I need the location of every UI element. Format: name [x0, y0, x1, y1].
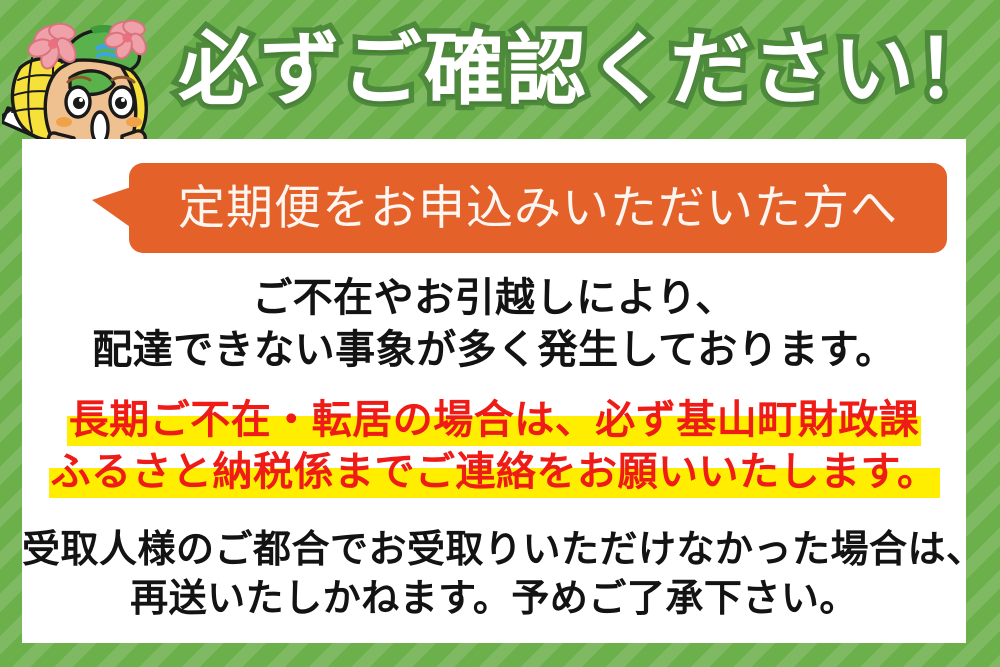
warning-line-1-text: 長期ご不在・転居の場合は、必ず基山町財政課	[67, 394, 922, 446]
intro-line-2: 配達できない事象が多く発生しております。	[22, 324, 966, 376]
subscription-banner: 定期便をお申込みいただいた方へ	[129, 163, 947, 253]
warning-line-2-text: ふるさと納税係までご連絡をお願いいたします。	[49, 446, 940, 498]
banner-label: 定期便をお申込みいただいた方へ	[178, 185, 898, 232]
highlighted-warning-block: 長期ご不在・転居の場合は、必ず基山町財政課 ふるさと納税係までご連絡をお願いいた…	[22, 394, 966, 498]
notice-poster: 基	[0, 0, 1000, 667]
intro-line-1: ご不在やお引越しにより、	[22, 272, 966, 324]
warning-line-1: 長期ご不在・転居の場合は、必ず基山町財政課	[22, 394, 966, 446]
intro-text-block: ご不在やお引越しにより、 配達できない事象が多く発生しております。	[22, 272, 966, 376]
outro-line-1: 受取人様のご都合でお受取りいただけなかった場合は、	[22, 525, 966, 574]
outro-text-block: 受取人様のご都合でお受取りいただけなかった場合は、 再送いたしかねます。予めご了…	[22, 525, 966, 624]
page-title: 必ずご確認ください！	[178, 14, 938, 126]
outro-line-2: 再送いたしかねます。予めご了承下さい。	[22, 574, 966, 623]
warning-line-2: ふるさと納税係までご連絡をお願いいたします。	[22, 446, 966, 498]
